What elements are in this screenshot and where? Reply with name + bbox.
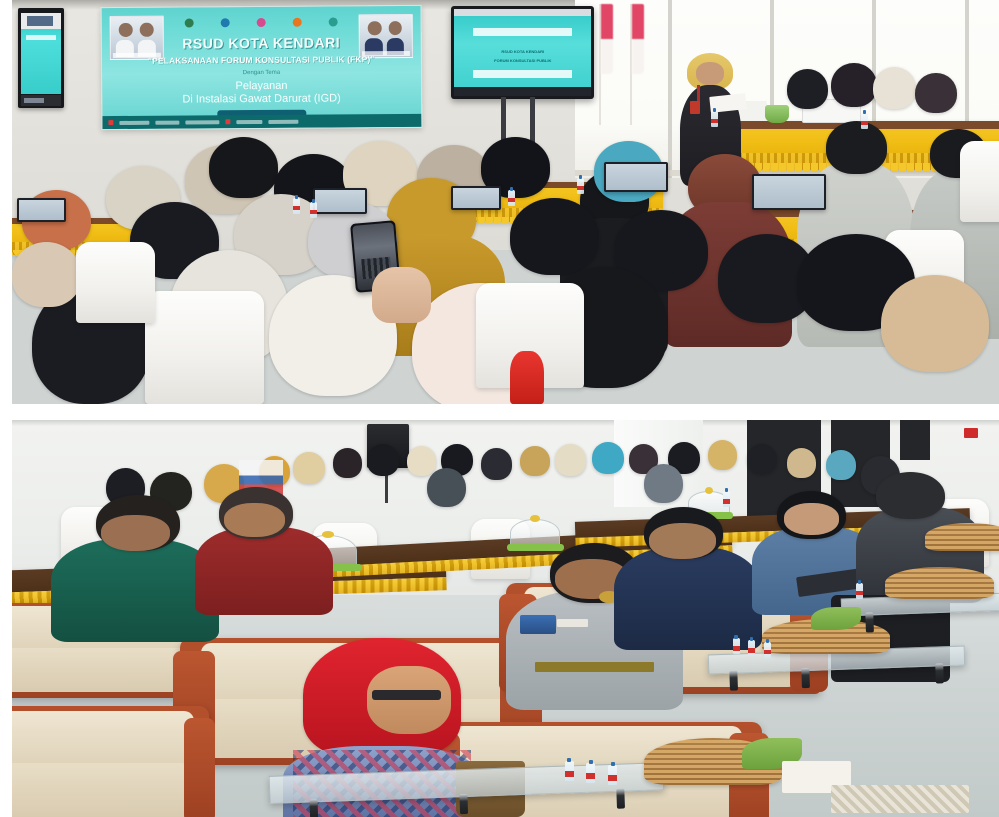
lobby-sofa (12, 706, 209, 817)
seated-attendee-head (873, 67, 916, 109)
chair-cover (145, 291, 263, 404)
wall-television: RSUD KOTA KENDARI FORUM KONSULTASI PUBLI… (451, 6, 594, 99)
attendee-face (784, 503, 839, 535)
water-bottle (748, 640, 755, 656)
attendee-head-hijab (555, 444, 587, 476)
indonesian-flag (599, 4, 615, 125)
uniform-name-tag (557, 619, 589, 628)
water-bottle (577, 178, 584, 194)
water-bottle (723, 491, 730, 507)
indonesian-flag (630, 4, 646, 125)
laptop (604, 162, 668, 192)
banner-footer-handles (102, 114, 421, 130)
attendee-head-hijab (787, 448, 817, 478)
eyeglasses (372, 690, 441, 700)
photo-collage: RSUD KOTA KENDARI "PELAKSANAAN FORUM KON… (0, 0, 999, 817)
attendee-head-hijab (333, 448, 363, 478)
water-bottle (733, 638, 740, 654)
banner-logo-row (184, 14, 337, 32)
water-bottle (293, 198, 300, 214)
water-bottle (586, 763, 595, 783)
attendee-head-hijab (881, 275, 990, 372)
water-bottle (764, 642, 771, 658)
attendee-head-hijab (367, 444, 399, 476)
dark-wall-panel (900, 420, 930, 460)
attendee-head (826, 121, 887, 174)
table-flower-arrangement (765, 105, 789, 123)
laptop (451, 186, 500, 210)
water-bottle (310, 202, 317, 218)
foreground-attendee-head (12, 242, 81, 307)
event-banner: RSUD KOTA KENDARI "PELAKSANAAN FORUM KON… (100, 5, 422, 130)
attendee-head (644, 464, 683, 504)
banner-photo-left (109, 16, 163, 60)
attendee-face (224, 503, 285, 537)
table-runner-mat (831, 785, 969, 813)
attendee-head-hijab (481, 448, 513, 480)
attendee-head-hijab (826, 450, 856, 480)
attendee-face (649, 523, 716, 559)
chair-cover (76, 242, 155, 323)
attendee-head-hijab (708, 440, 738, 470)
top-photo-panel: RSUD KOTA KENDARI "PELAKSANAAN FORUM KON… (12, 0, 999, 404)
vertical-display-monitor (18, 8, 64, 108)
woven-snack-basket (885, 567, 994, 599)
chair-cover (960, 141, 999, 222)
water-bottle (711, 111, 718, 127)
water-bottle (565, 761, 574, 781)
food-dome (510, 519, 559, 547)
attendee-head-hijab (592, 442, 624, 474)
banner-photo-right (358, 14, 412, 58)
banner-event-title: "PELAKSANAAN FORUM KONSULTASI PUBLIK (FK… (114, 55, 407, 67)
banner-organization: RSUD KOTA KENDARI (165, 34, 356, 51)
attendee-head-hijab (510, 198, 599, 275)
water-bottle (856, 583, 863, 599)
woven-snack-basket (925, 523, 999, 551)
water-bottle (861, 113, 868, 129)
red-bag (510, 351, 544, 404)
wall-indicator-light (964, 428, 978, 438)
seated-attendee-head (787, 69, 828, 109)
attendee-head (747, 444, 777, 474)
attendee-head-hijab (407, 446, 437, 476)
laptop (313, 188, 367, 214)
laptop (17, 198, 66, 222)
attendee-head (876, 472, 945, 520)
bottom-photo-panel (12, 420, 999, 817)
laptop (752, 174, 826, 210)
banner-theme-line-2: Di Instalasi Gawat Darurat (IGD) (102, 92, 421, 106)
uniform-belt (535, 662, 653, 672)
water-bottle (508, 190, 515, 206)
attendee-face (101, 515, 170, 551)
attendee-blue-batik-torso (614, 547, 762, 650)
hand-holding-phone (372, 267, 431, 324)
seated-attendee-head (915, 73, 956, 113)
seated-attendee-head (831, 63, 876, 107)
banner-theme-line-1: Pelayanan (102, 79, 421, 93)
attendee-head-hijab (520, 446, 550, 476)
attendee-red-batik-torso (195, 527, 333, 614)
water-bottle (608, 765, 617, 785)
attendee-head-hijab (209, 137, 278, 198)
attendee-head-hijab (293, 452, 325, 484)
attendee-head (427, 468, 466, 508)
banner-theme-label: Dengan Tema (102, 69, 421, 77)
uniform-shoulder-patch (520, 615, 556, 635)
